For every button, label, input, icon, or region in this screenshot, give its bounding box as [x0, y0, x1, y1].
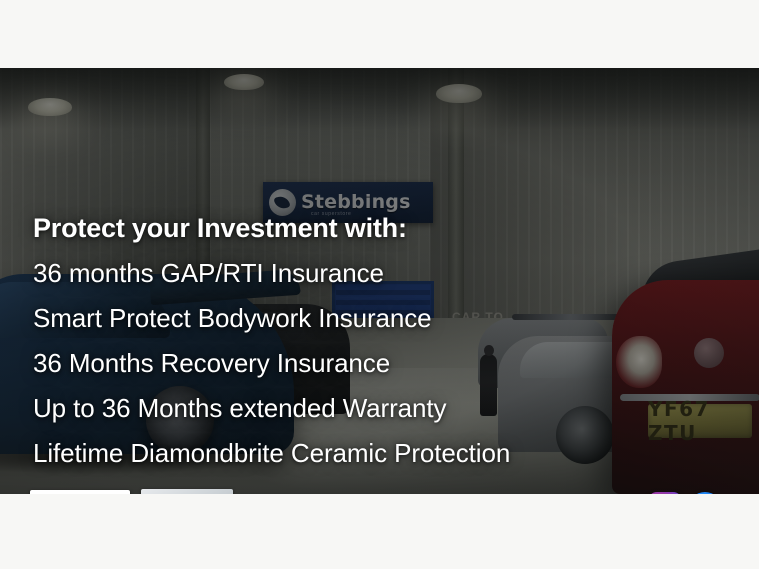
promo-offer-item: 36 Months Recovery Insurance — [33, 341, 673, 386]
promo-offer-item: Smart Protect Bodywork Insurance — [33, 296, 673, 341]
promo-banner-page: Stebbings car superstore CAR TO — [0, 0, 759, 569]
promo-headline: Protect your Investment with: — [33, 206, 673, 251]
promo-text-block: Protect your Investment with: 36 months … — [33, 206, 673, 476]
dealership-promo-banner: Stebbings car superstore CAR TO — [0, 68, 759, 494]
promo-offer-item: 36 months GAP/RTI Insurance — [33, 251, 673, 296]
promo-offer-item: Lifetime Diamondbrite Ceramic Protection — [33, 431, 673, 476]
letterbox-top — [0, 0, 759, 68]
letterbox-bottom — [0, 494, 759, 569]
promo-offer-item: Up to 36 Months extended Warranty — [33, 386, 673, 431]
